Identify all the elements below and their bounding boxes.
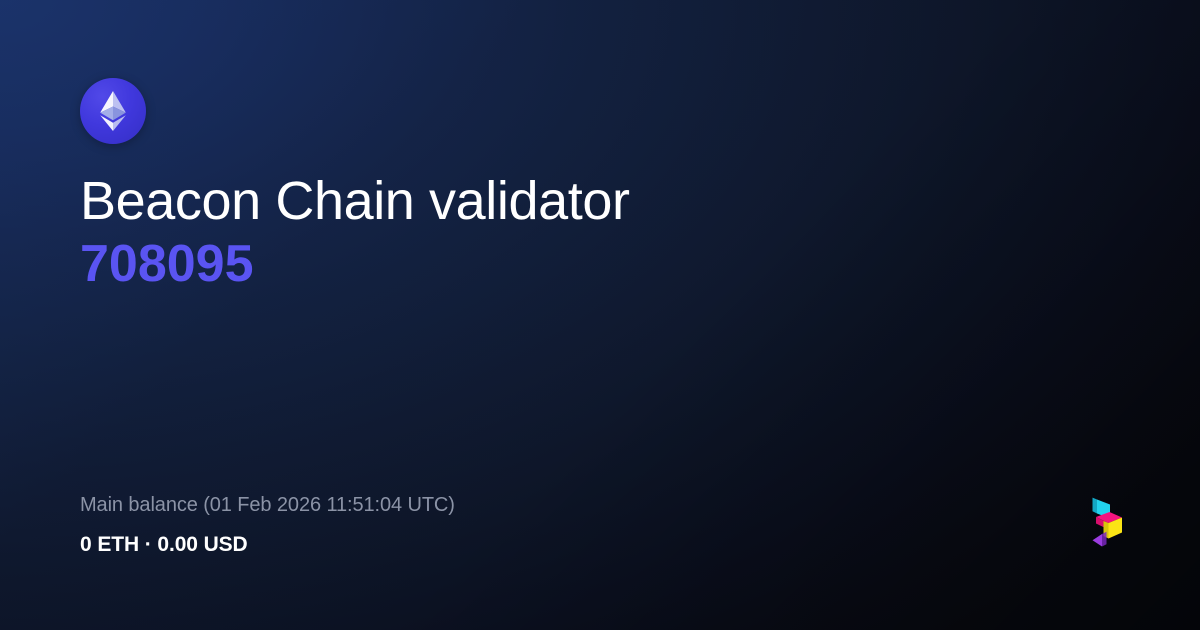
og-card: Beacon Chain validator 708095 Main balan…	[0, 0, 1200, 630]
balance-section: Main balance (01 Feb 2026 11:51:04 UTC) …	[80, 492, 455, 558]
ethereum-diamond-icon	[80, 78, 146, 144]
title-block: Beacon Chain validator 708095	[80, 170, 1200, 294]
validator-index: 708095	[80, 234, 1200, 294]
balance-label: Main balance (01 Feb 2026 11:51:04 UTC)	[80, 492, 455, 518]
balance-value: 0 ETH · 0.00 USD	[80, 532, 455, 558]
page-title: Beacon Chain validator	[80, 170, 1200, 232]
beaconchain-logo-icon	[1088, 494, 1128, 554]
card-content: Beacon Chain validator 708095	[0, 0, 1200, 294]
